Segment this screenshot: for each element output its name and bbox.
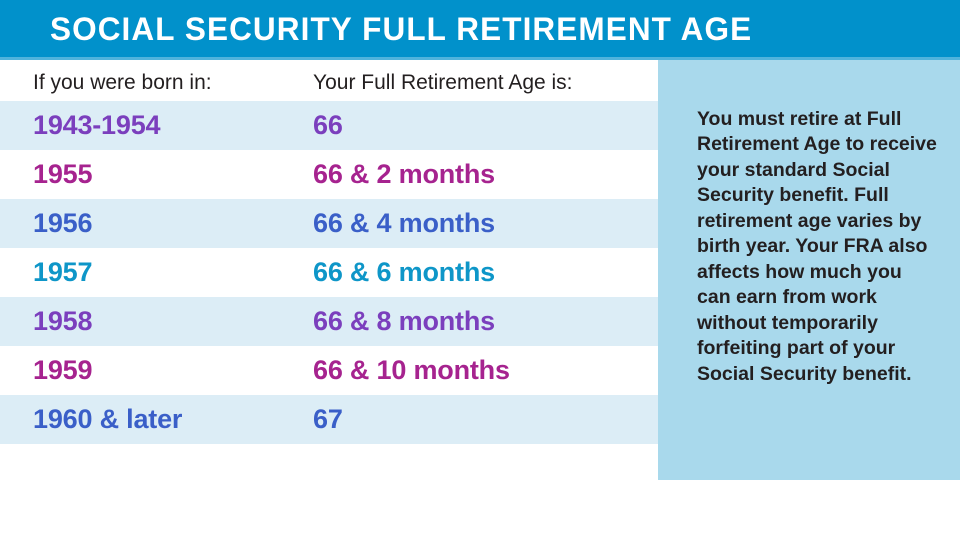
page-title: SOCIAL SECURITY FULL RETIREMENT AGE xyxy=(50,13,752,45)
retirement-age-table: If you were born in: Your Full Retiremen… xyxy=(0,60,658,480)
cell-retirement-age: 67 xyxy=(313,404,343,435)
table-header-row: If you were born in: Your Full Retiremen… xyxy=(0,60,658,101)
cell-birth-year: 1959 xyxy=(33,355,92,386)
table-row: 1943-195466 xyxy=(0,101,658,150)
infographic-root: SOCIAL SECURITY FULL RETIREMENT AGE If y… xyxy=(0,0,960,480)
header-banner: SOCIAL SECURITY FULL RETIREMENT AGE xyxy=(0,0,960,57)
cell-birth-year: 1955 xyxy=(33,159,92,190)
table-row: 195866 & 8 months xyxy=(0,297,658,346)
cell-retirement-age: 66 & 6 months xyxy=(313,257,495,288)
cell-retirement-age: 66 & 8 months xyxy=(313,306,495,337)
cell-birth-year: 1943-1954 xyxy=(33,110,160,141)
cell-retirement-age: 66 xyxy=(313,110,343,141)
table-row: 195666 & 4 months xyxy=(0,199,658,248)
cell-retirement-age: 66 & 2 months xyxy=(313,159,495,190)
column-header-retirement-age: Your Full Retirement Age is: xyxy=(313,71,573,95)
table-row: 1960 & later67 xyxy=(0,395,658,444)
cell-retirement-age: 66 & 4 months xyxy=(313,208,495,239)
cell-birth-year: 1958 xyxy=(33,306,92,337)
table-row: 195966 & 10 months xyxy=(0,346,658,395)
table-body: 1943-195466195566 & 2 months195666 & 4 m… xyxy=(0,101,658,444)
cell-retirement-age: 66 & 10 months xyxy=(313,355,510,386)
column-header-birth-year: If you were born in: xyxy=(33,71,212,95)
sidebar-note-panel: You must retire at Full Retirement Age t… xyxy=(658,60,960,480)
table-row: 195566 & 2 months xyxy=(0,150,658,199)
cell-birth-year: 1957 xyxy=(33,257,92,288)
table-row: 195766 & 6 months xyxy=(0,248,658,297)
cell-birth-year: 1956 xyxy=(33,208,92,239)
sidebar-body-text: You must retire at Full Retirement Age t… xyxy=(697,107,937,388)
cell-birth-year: 1960 & later xyxy=(33,404,182,435)
